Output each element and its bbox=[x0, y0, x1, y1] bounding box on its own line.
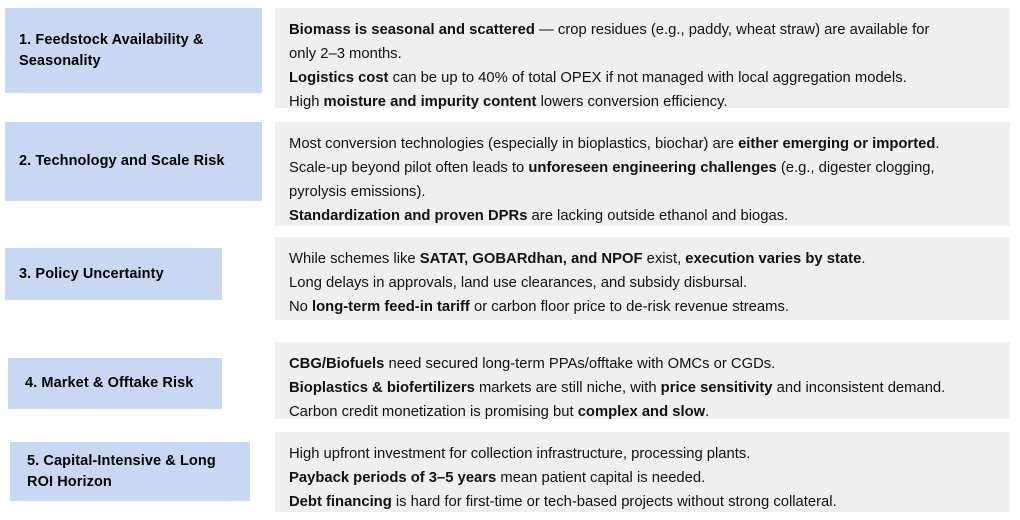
risk-content-1: Biomass is seasonal and scattered — crop… bbox=[275, 8, 1010, 108]
content-line: Long delays in approvals, land use clear… bbox=[289, 271, 996, 295]
risk-label-4: 4. Market & Offtake Risk bbox=[8, 358, 222, 409]
content-line: Biomass is seasonal and scattered — crop… bbox=[289, 18, 996, 42]
content-line: Scale-up beyond pilot often leads to unf… bbox=[289, 156, 996, 180]
risk-label-3: 3. Policy Uncertainty bbox=[5, 248, 222, 300]
content-line: No long-term feed-in tariff or carbon fl… bbox=[289, 295, 996, 319]
emphasis-text: Logistics cost bbox=[289, 70, 389, 86]
risk-label-text: 1. Feedstock Availability &Seasonality bbox=[19, 30, 254, 72]
emphasis-text: long-term feed-in tariff bbox=[312, 299, 470, 315]
body-text: Scale-up beyond pilot often leads to bbox=[289, 160, 528, 176]
body-text: are lacking outside ethanol and biogas. bbox=[527, 208, 788, 224]
risk-label-text: 5. Capital-Intensive & LongROI Horizon bbox=[27, 451, 242, 493]
risk-label-5: 5. Capital-Intensive & LongROI Horizon bbox=[10, 442, 250, 501]
risk-matrix: 1. Feedstock Availability &Seasonality B… bbox=[0, 0, 1020, 520]
body-text: pyrolysis emissions). bbox=[289, 184, 426, 200]
body-text: can be up to 40% of total OPEX if not ma… bbox=[389, 70, 907, 86]
risk-content-3: While schemes like SATAT, GOBARdhan, and… bbox=[275, 237, 1010, 320]
content-line: CBG/Biofuels need secured long-term PPAs… bbox=[289, 352, 996, 376]
body-text: While schemes like bbox=[289, 251, 420, 267]
body-text: and inconsistent demand. bbox=[773, 380, 946, 396]
body-text: exist, bbox=[643, 251, 686, 267]
body-text: . bbox=[705, 404, 709, 420]
content-line: Payback periods of 3–5 years mean patien… bbox=[289, 466, 996, 490]
emphasis-text: Bioplastics & biofertilizers bbox=[289, 380, 475, 396]
content-line: Debt financing is hard for first-time or… bbox=[289, 490, 996, 514]
emphasis-text: unforeseen engineering challenges bbox=[528, 160, 776, 176]
body-text: No bbox=[289, 299, 312, 315]
content-line: pyrolysis emissions). bbox=[289, 180, 996, 204]
risk-content-5: High upfront investment for collection i… bbox=[275, 432, 1010, 512]
body-text: . bbox=[935, 136, 939, 152]
risk-content-4: CBG/Biofuels need secured long-term PPAs… bbox=[275, 342, 1010, 419]
emphasis-text: Payback periods of 3–5 years bbox=[289, 470, 496, 486]
body-text: Long delays in approvals, land use clear… bbox=[289, 275, 747, 291]
content-line: While schemes like SATAT, GOBARdhan, and… bbox=[289, 247, 996, 271]
body-text: only 2–3 months. bbox=[289, 46, 402, 62]
body-text: need secured long-term PPAs/offtake with… bbox=[384, 356, 775, 372]
risk-label-text: 4. Market & Offtake Risk bbox=[25, 373, 214, 394]
body-text: — crop residues (e.g., paddy, wheat stra… bbox=[535, 22, 930, 38]
emphasis-text: SATAT, GOBARdhan, and NPOF bbox=[420, 251, 643, 267]
content-line: Bioplastics & biofertilizers markets are… bbox=[289, 376, 996, 400]
content-line: Most conversion technologies (especially… bbox=[289, 132, 996, 156]
body-text: Carbon credit monetization is promising … bbox=[289, 404, 578, 420]
body-text: markets are still niche, with bbox=[475, 380, 661, 396]
emphasis-text: Standardization and proven DPRs bbox=[289, 208, 527, 224]
emphasis-text: price sensitivity bbox=[661, 380, 773, 396]
emphasis-text: moisture and impurity content bbox=[324, 94, 537, 110]
risk-label-text: 2. Technology and Scale Risk bbox=[19, 151, 254, 172]
body-text: . bbox=[861, 251, 865, 267]
body-text: lowers conversion efficiency. bbox=[536, 94, 727, 110]
risk-label-2: 2. Technology and Scale Risk bbox=[5, 122, 262, 201]
body-text: mean patient capital is needed. bbox=[496, 470, 705, 486]
body-text: High upfront investment for collection i… bbox=[289, 446, 750, 462]
risk-label-1: 1. Feedstock Availability &Seasonality bbox=[5, 8, 262, 93]
emphasis-text: CBG/Biofuels bbox=[289, 356, 384, 372]
emphasis-text: complex and slow bbox=[578, 404, 705, 420]
body-text: High bbox=[289, 94, 324, 110]
emphasis-text: Biomass is seasonal and scattered bbox=[289, 22, 535, 38]
body-text: or carbon floor price to de-risk revenue… bbox=[470, 299, 789, 315]
risk-label-text: 3. Policy Uncertainty bbox=[19, 264, 214, 285]
body-text: (e.g., digester clogging, bbox=[777, 160, 935, 176]
content-line: Carbon credit monetization is promising … bbox=[289, 400, 996, 424]
body-text: Most conversion technologies (especially… bbox=[289, 136, 738, 152]
content-line: Standardization and proven DPRs are lack… bbox=[289, 204, 996, 228]
content-line: High moisture and impurity content lower… bbox=[289, 90, 996, 114]
emphasis-text: execution varies by state bbox=[685, 251, 861, 267]
emphasis-text: either emerging or imported bbox=[738, 136, 935, 152]
risk-content-2: Most conversion technologies (especially… bbox=[275, 122, 1010, 226]
content-line: Logistics cost can be up to 40% of total… bbox=[289, 66, 996, 90]
body-text: is hard for first-time or tech-based pro… bbox=[392, 494, 837, 510]
emphasis-text: Debt financing bbox=[289, 494, 392, 510]
content-line: only 2–3 months. bbox=[289, 42, 996, 66]
content-line: High upfront investment for collection i… bbox=[289, 442, 996, 466]
